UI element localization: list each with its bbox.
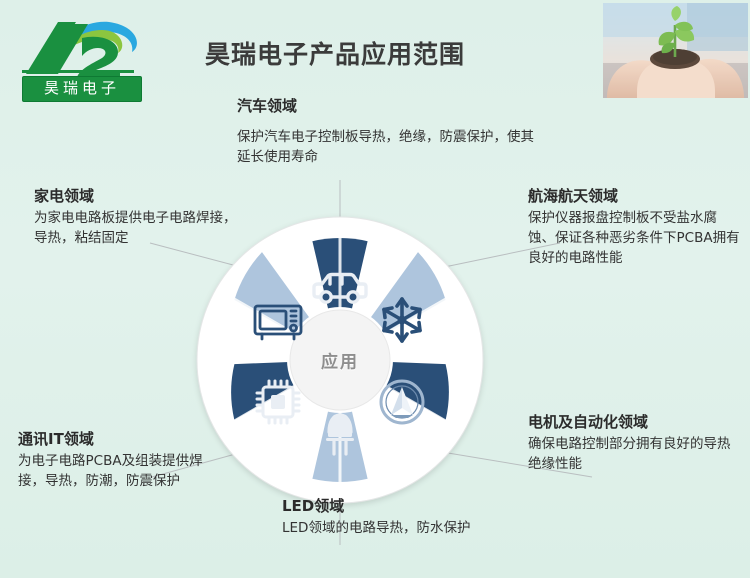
callout-motor-automation-body: 确保电路控制部分拥有良好的导热绝缘性能 — [528, 434, 740, 474]
callout-marine-aerospace: 航海航天领域 保护仪器报盘控制板不受盐水腐蚀、保证各种恶劣条件下PCBA拥有良好… — [528, 186, 743, 268]
wheel-hub-label: 应用 — [321, 348, 359, 373]
callout-automotive-heading: 汽车领域 — [237, 96, 547, 117]
callout-automotive: 汽车领域 保护汽车电子控制板导热，绝缘，防震保护，使其延长使用寿命 — [237, 96, 547, 167]
logo-wordmark: 昊瑞电子 — [22, 76, 142, 102]
callout-communication-it: 通讯IT领域 为电子电路PCBA及组装提供焊接，导热，防潮，防震保护 — [18, 429, 223, 491]
callout-led: LED领域 LED领域的电路导热，防水保护 — [282, 496, 527, 538]
callout-motor-automation: 电机及自动化领域 确保电路控制部分拥有良好的导热绝缘性能 — [528, 412, 740, 474]
callout-motor-automation-heading: 电机及自动化领域 — [528, 412, 740, 433]
callout-home-appliance: 家电领域 为家电电路板提供电子电路焊接，导热，粘结固定 — [34, 186, 249, 248]
hands-holding-seedling-photo — [603, 3, 748, 98]
infographic-page: 昊瑞电子 昊瑞电子产品应用范围 — [0, 0, 750, 578]
callout-home-appliance-body: 为家电电路板提供电子电路焊接，导热，粘结固定 — [34, 208, 249, 248]
callout-communication-it-heading: 通讯IT领域 — [18, 429, 223, 450]
callout-led-body: LED领域的电路导热，防水保护 — [282, 518, 527, 538]
callout-marine-aerospace-heading: 航海航天领域 — [528, 186, 743, 207]
callout-home-appliance-heading: 家电领域 — [34, 186, 249, 207]
callout-marine-aerospace-body: 保护仪器报盘控制板不受盐水腐蚀、保证各种恶劣条件下PCBA拥有良好的电路性能 — [528, 208, 743, 268]
application-wheel: 应用 — [196, 216, 484, 504]
page-title: 昊瑞电子产品应用范围 — [205, 40, 535, 70]
company-logo: 昊瑞电子 — [14, 10, 149, 102]
callout-led-heading: LED领域 — [282, 496, 527, 517]
microchip-icon — [257, 381, 299, 423]
callout-communication-it-body: 为电子电路PCBA及组装提供焊接，导热，防潮，防震保护 — [18, 451, 223, 491]
callout-automotive-body: 保护汽车电子控制板导热，绝缘，防震保护，使其延长使用寿命 — [237, 127, 547, 167]
